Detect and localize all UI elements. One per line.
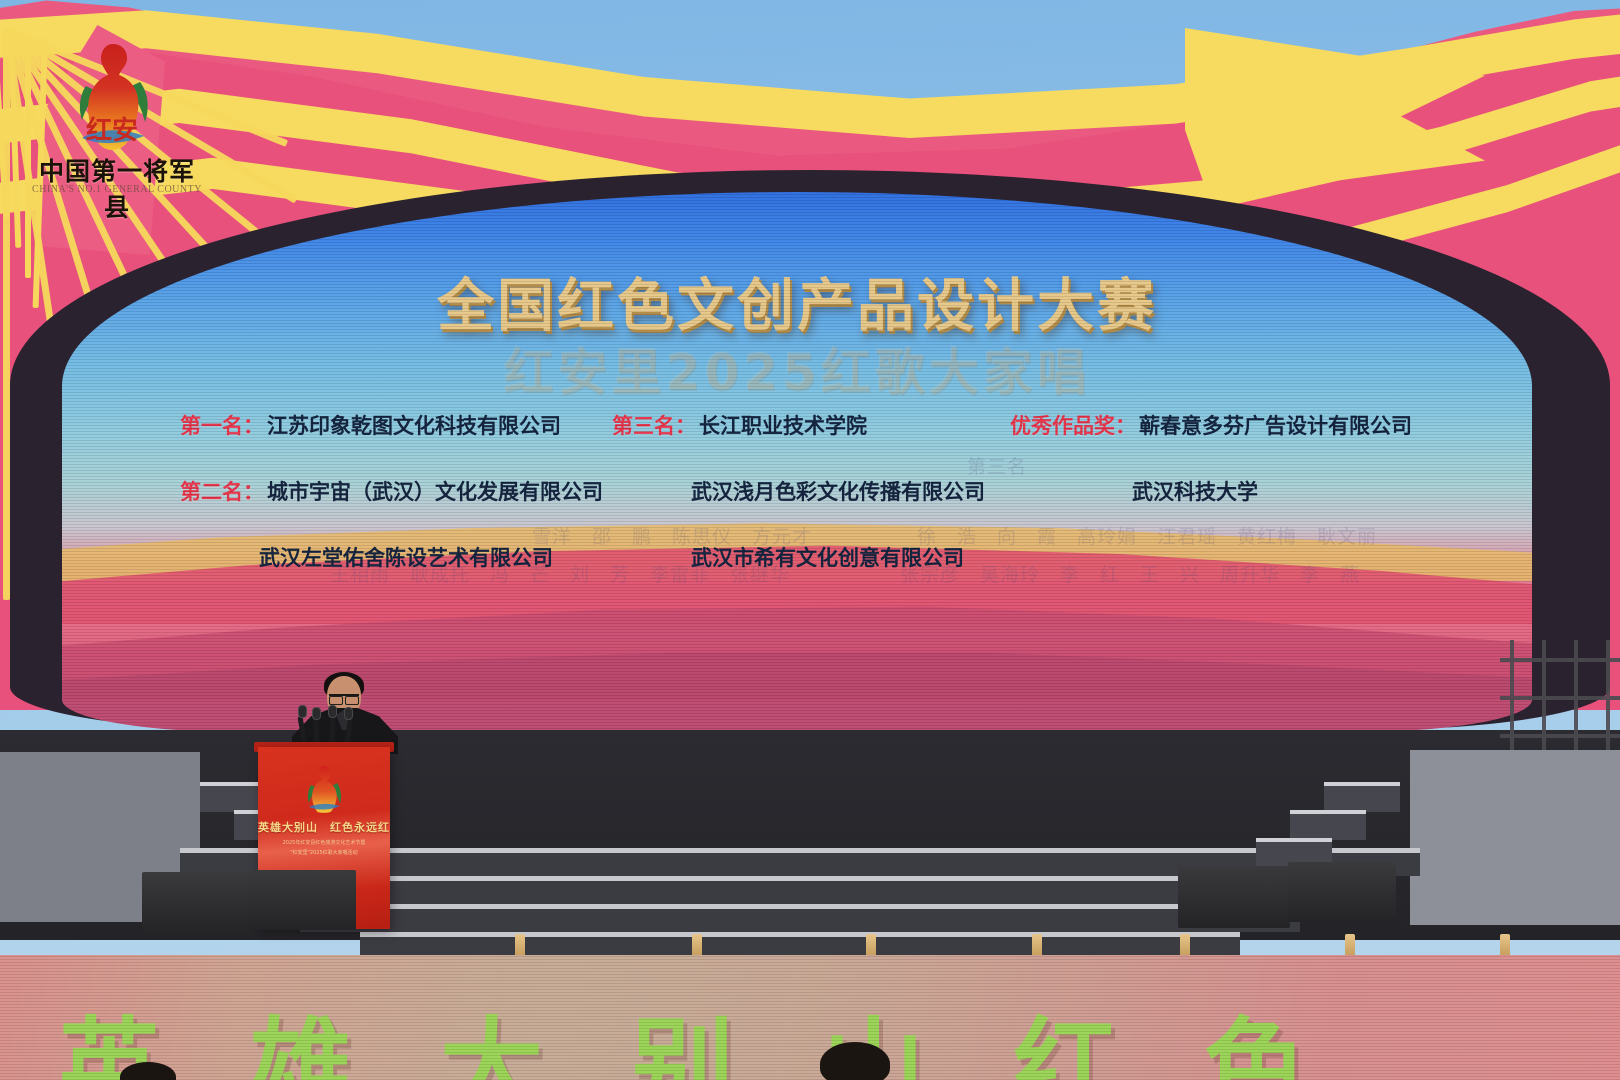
logo-english-slogan: CHINA'S NO.1 GENERAL COUNTY [32,184,202,195]
award-results: 第一名： 江苏印象乾图文化科技有限公司 第二名： 城市宇宙（武汉）文化发展有限公… [62,410,1532,608]
award-winner-name: 武汉浅月色彩文化传播有限公司 [691,476,985,506]
led-screen: 全国红色文创产品设计大赛 红安里2025红歌大家唱 第三名 雪洋 邵 鹏 陈思仪… [62,192,1532,732]
award-rank-label: 第三名： [612,410,696,440]
award-row: 第一名： 江苏印象乾图文化科技有限公司 [180,410,612,440]
scaffold-bar [1500,658,1620,662]
award-rank-label: 第二名： [180,476,264,506]
stage-monitor-speaker [142,872,252,934]
award-row: 第三名： 长江职业技术学院 [612,410,1010,440]
stage-right-grey-wall [1410,750,1620,925]
award-rank-label: 优秀作品奖： [1010,410,1136,440]
award-winner-name: 江苏印象乾图文化科技有限公司 [267,410,561,440]
stage-monitor-speaker [248,870,356,930]
podium-slogan-text: 英雄大别山 红色永远红 [258,819,390,835]
award-row: 武汉科技大学 [1010,476,1412,506]
hongan-county-logo: 红安 中国第一将军县 CHINA'S NO.1 GENERAL COUNTY [22,42,202,217]
award-winner-name: 武汉科技大学 [1132,476,1258,506]
stage-scaffold [1500,640,1620,750]
award-row: 武汉浅月色彩文化传播有限公司 [612,476,1010,506]
award-column-first-second: 第一名： 江苏印象乾图文化科技有限公司 第二名： 城市宇宙（武汉）文化发展有限公… [180,410,612,608]
award-winner-name: 武汉左堂佑舍陈设艺术有限公司 [259,542,553,572]
microphone-head [328,705,337,718]
stage-monitor-speaker [1288,862,1396,922]
event-main-title: 全国红色文创产品设计大赛 [62,260,1532,342]
award-rank-label: 第一名： [180,410,264,440]
foreground-calligraphy-text: 英雄大别山红色 [0,983,1620,1080]
backdrop-spoke [3,28,10,600]
award-winner-name: 武汉市希有文化创意有限公司 [691,542,964,572]
award-row: 优秀作品奖： 蕲春意多芬广告设计有限公司 [1010,410,1412,440]
speaker-glasses [329,694,359,701]
award-row: 武汉市希有文化创意有限公司 [612,542,1010,572]
stage-stair-block [1324,782,1400,812]
award-row: 第二名： 城市宇宙（武汉）文化发展有限公司 [180,476,612,506]
award-column-excellence: 优秀作品奖： 蕲春意多芬广告设计有限公司 武汉科技大学 [1010,410,1412,608]
podium-emblem-icon [304,765,344,813]
microphone-head [298,705,307,718]
hongan-script-text: 红安 [32,110,192,147]
award-column-third: 第三名： 长江职业技术学院 武汉浅月色彩文化传播有限公司 武汉市希有文化创意有限… [612,410,1010,608]
foreground-led-banner: 英雄大别山红色 [0,955,1620,1080]
microphone-head [312,707,321,720]
photo-scene: 全国红色文创产品设计大赛 红安里2025红歌大家唱 第三名 雪洋 邵 鹏 陈思仪… [0,0,1620,1080]
award-winner-name: 长江职业技术学院 [699,410,867,440]
podium-subtitle-line-2: "红安里"2025红歌大家唱活动 [258,849,390,858]
award-row: 武汉左堂佑舍陈设艺术有限公司 [180,542,612,572]
stage-monitor-speaker [1178,866,1290,928]
crowd-head-silhouette [820,1042,890,1080]
microphone-head [344,707,353,720]
award-winner-name: 城市宇宙（武汉）文化发展有限公司 [267,476,603,506]
event-sub-title: 红安里2025红歌大家唱 [62,332,1532,404]
stage-stair-block [1290,810,1366,840]
scaffold-bar [1500,734,1620,738]
scaffold-bar [1500,696,1620,700]
stage-step [300,904,1300,932]
award-winner-name: 蕲春意多芬广告设计有限公司 [1139,410,1412,440]
podium-subtitle-line-1: 2025年红安县红色旅游文化艺术节暨 [258,839,390,848]
